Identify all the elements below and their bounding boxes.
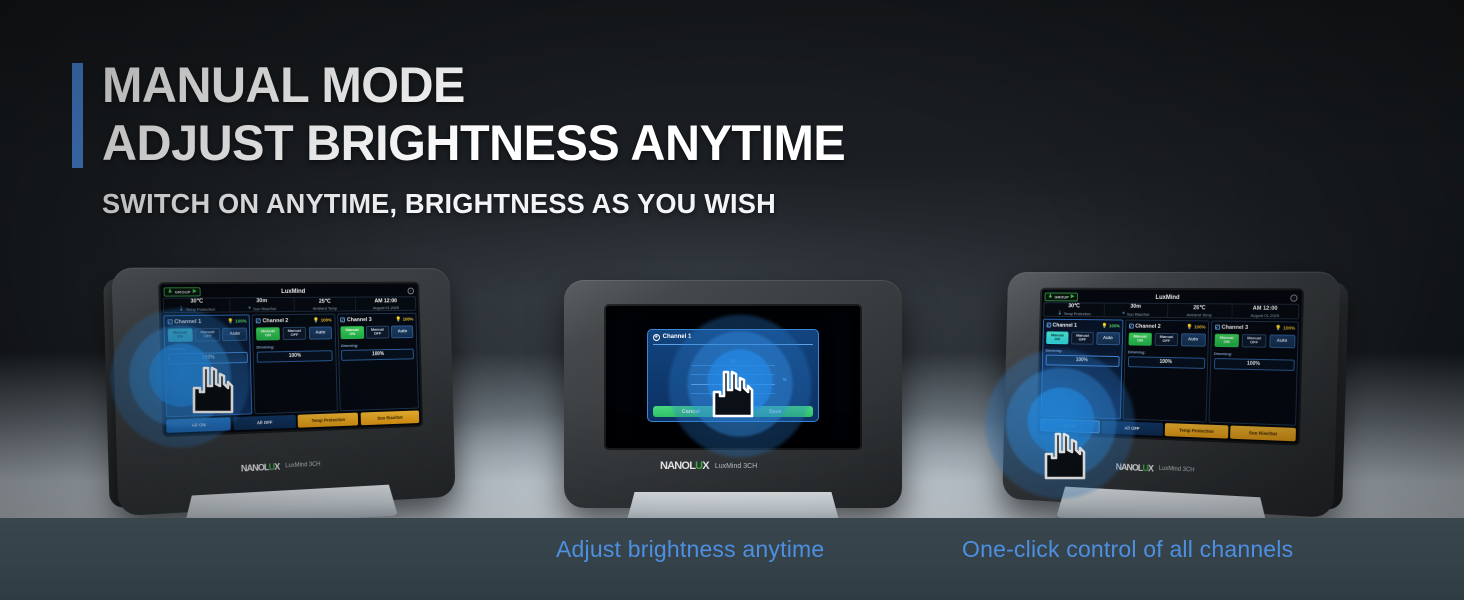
channel-header: ✓Channel 2💡100% [1128, 323, 1205, 330]
bulb-icon: 💡 [1102, 323, 1108, 329]
channel-percent: 💡100% [227, 318, 246, 324]
status-item-1: 30℃🌡Temp Protection [1044, 303, 1105, 316]
channel-percent-value: 100% [1283, 325, 1295, 330]
mode-button-manual-on[interactable]: ManualON [256, 327, 280, 340]
bulb-icon: 💡 [1275, 325, 1282, 331]
checkbox-icon[interactable]: ✓ [256, 318, 261, 323]
status-value: 30m [1130, 304, 1141, 310]
ui-title-bar: ♟ GROUP ▶ LuxMind [1044, 292, 1300, 304]
status-label-text: August 01,2025 [373, 305, 399, 310]
sun-icon: ☀ [248, 305, 252, 311]
mode-label-top: Auto [1188, 337, 1198, 342]
ui-title-bar: ♟ GROUP ▶ LuxMind [162, 286, 416, 298]
channel-header: ✓Channel 1💡100% [167, 318, 247, 325]
channel-name: Channel 1 [174, 318, 201, 324]
device-center: NANOLUX LuxMind 3CH ☀ Channel 1 9095100%… [564, 280, 902, 508]
status-label: 🌡Temp Protection [178, 306, 215, 312]
status-label-text: Temp Protection [186, 306, 216, 311]
mode-button-manual-off[interactable]: ManualOFF [195, 327, 220, 341]
status-value: 30℃ [1068, 303, 1080, 309]
action-button-sun-rise-set[interactable]: Sun Rise/Set [1230, 425, 1296, 441]
dimming-label: Dimming: [341, 341, 414, 347]
channel-panel-3[interactable]: ✓Channel 3💡100%ManualONManualOFFAutoDimm… [337, 313, 419, 412]
cancel-button[interactable]: Cancel [653, 406, 729, 417]
gear-icon[interactable] [407, 288, 414, 295]
picker-option-value: 95 [730, 368, 736, 374]
action-button-all-off[interactable]: All OFF [233, 415, 296, 430]
device-left-screen[interactable]: ♟ GROUP ▶ LuxMind 30℃🌡Temp Protection30m… [160, 284, 421, 435]
dimming-label: Dimming: [1128, 349, 1205, 355]
brand-model: LuxMind 3CH [715, 463, 757, 470]
status-item-4: AM 12:00August 01,2025 [1232, 304, 1298, 318]
mode-button-auto[interactable]: Auto [391, 325, 414, 338]
headline-block: MANUAL MODE ADJUST BRIGHTNESS ANYTIME SW… [72, 58, 1052, 220]
people-icon: ♟ [1048, 294, 1052, 299]
dimming-value-field[interactable]: 100% [256, 350, 332, 363]
brand-logo: NANOLUX [1116, 462, 1154, 474]
picker-option-value: 100 [728, 377, 739, 384]
status-bar: 30℃🌡Temp Protection30m☀Sun Rise/Set25℃Am… [1043, 302, 1299, 319]
mode-button-manual-off[interactable]: ManualOFF [1241, 334, 1267, 348]
channel-percent-value: 100% [1194, 324, 1206, 329]
dimming-label: Dimming: [168, 344, 248, 351]
mode-button-auto[interactable]: Auto [1181, 333, 1206, 346]
picker-option-value: 90 [730, 359, 736, 365]
controller-ui-right[interactable]: ♟ GROUP ▶ LuxMind 30℃🌡Temp Protection30m… [1038, 290, 1302, 444]
mode-button-manual-off[interactable]: ManualOFF [366, 325, 389, 338]
checkbox-icon[interactable]: ✓ [167, 319, 172, 324]
mode-label-bottom: OFF [374, 332, 382, 337]
channel-title: ✓Channel 3 [340, 317, 372, 323]
brand-logo: NANOLUX [660, 460, 709, 472]
status-label-text: Ambient Temp [1186, 312, 1211, 317]
bulb-icon: 💡 [396, 316, 402, 322]
channel-name: Channel 3 [1222, 324, 1249, 330]
mode-button-manual-on[interactable]: ManualON [340, 326, 363, 339]
caption-right: One-click control of all channels [962, 536, 1293, 563]
mode-button-manual-off[interactable]: ManualOFF [1071, 331, 1094, 344]
device-right: NANOLUX LuxMind 3CH ♟ GROUP ▶ LuxMind 30… [1002, 272, 1340, 518]
picker-option-value: 20 [730, 387, 736, 393]
status-label: 🌡Temp Protection [1057, 310, 1091, 316]
status-item-2: 30m☀Sun Rise/Set [230, 298, 294, 312]
picker-unit: % [783, 377, 787, 382]
thermometer-icon: 🌡 [178, 306, 184, 312]
mode-button-manual-off[interactable]: ManualOFF [1154, 332, 1178, 345]
channel-name: Channel 1 [1053, 322, 1077, 328]
checkbox-icon[interactable]: ✓ [1046, 323, 1051, 328]
channel-percent-value: 100% [321, 318, 332, 323]
mode-label-top: Auto [398, 329, 408, 334]
channel-percent-value: 100% [1109, 323, 1120, 328]
save-button[interactable]: Save [737, 406, 813, 417]
mode-label-bottom: ON [1223, 340, 1229, 345]
mode-button-manual-on[interactable]: ManualON [1128, 332, 1152, 345]
channel-title: ✓Channel 1 [1046, 322, 1077, 328]
status-value: 30℃ [190, 298, 203, 304]
chevron-right-icon: ▶ [193, 289, 197, 294]
action-button-all-on[interactable]: All ON [166, 417, 231, 433]
mode-button-manual-on[interactable]: ManualON [1046, 331, 1069, 344]
status-bar: 30℃🌡Temp Protection30m☀Sun Rise/Set25℃Am… [163, 296, 417, 313]
accent-bar [72, 63, 83, 168]
status-label-text: Sun Rise/Set [253, 306, 276, 311]
channel-header: ✓Channel 3💡100% [1215, 324, 1296, 331]
status-item-3: 25℃Ambient Temp [294, 298, 356, 311]
picker-option-20[interactable]: 20 [691, 386, 775, 394]
mode-label-bottom: ON [349, 332, 355, 337]
picker-option-90[interactable]: 90 [691, 358, 775, 366]
channel-panel-1[interactable]: ✓Channel 1💡100%ManualONManualOFFAutoDimm… [1041, 319, 1124, 420]
status-label-text: Sun Rise/Set [1127, 311, 1150, 316]
channel-header: ✓Channel 1💡100% [1046, 322, 1120, 329]
dimming-value-field[interactable]: 100% [1213, 357, 1294, 370]
status-label: August 01,2025 [373, 305, 399, 310]
picker-option-100[interactable]: 100% [691, 376, 775, 385]
controller-ui-left[interactable]: ♟ GROUP ▶ LuxMind 30℃🌡Temp Protection30m… [160, 284, 421, 435]
mode-button-manual-on[interactable]: ManualON [167, 328, 193, 342]
channel-list: ✓Channel 1💡100%ManualONManualOFFAutoDimm… [163, 313, 419, 418]
device-center-brand: NANOLUX LuxMind 3CH [660, 460, 757, 472]
brand-model: LuxMind 3CH [285, 462, 320, 470]
dialog-header: ☀ Channel 1 [653, 334, 814, 345]
dimming-label: Dimming: [1045, 347, 1119, 353]
people-icon: ♟ [168, 289, 173, 294]
channel-percent-value: 100% [403, 317, 414, 322]
headline-subtitle: SWITCH ON ANYTIME, BRIGHTNESS AS YOU WIS… [102, 168, 1024, 220]
channel-percent: 💡100% [1186, 324, 1205, 330]
channel-list: ✓Channel 1💡100%ManualONManualOFFAutoDimm… [1041, 319, 1299, 426]
status-label: Ambient Temp [313, 305, 338, 310]
dialog-title: Channel 1 [663, 334, 692, 340]
mode-label-bottom: ON [265, 333, 271, 338]
status-item-1: 30℃🌡Temp Protection [164, 298, 231, 312]
channel-panel-1[interactable]: ✓Channel 1💡100%ManualONManualOFFAutoDimm… [163, 314, 252, 417]
caption-left: Adjust brightness anytime [556, 536, 824, 563]
status-label: ☀Sun Rise/Set [1122, 311, 1150, 317]
channel-percent: 💡100% [396, 316, 414, 322]
sun-icon: ☀ [1122, 311, 1126, 317]
channel-percent: 💡100% [313, 317, 332, 323]
mode-label-top: Auto [315, 330, 325, 335]
status-value: 25℃ [319, 298, 331, 304]
device-left: NANOLUX LuxMind 3CH ♟ GROUP ▶ LuxMind 30… [111, 268, 455, 517]
channel-percent-value: 100% [235, 318, 247, 323]
channel-panel-2[interactable]: ✓Channel 2💡100%ManualONManualOFFAutoDimm… [252, 314, 338, 415]
promo-banner: MANUAL MODE ADJUST BRIGHTNESS ANYTIME SW… [0, 0, 1464, 600]
action-button-temp-protection[interactable]: Temp Protection [1165, 423, 1228, 439]
mode-button-row: ManualONManualOFFAuto [256, 326, 333, 340]
mode-label-top: Auto [230, 331, 240, 336]
channel-title: ✓Channel 1 [167, 318, 201, 325]
mode-label-bottom: OFF [1250, 340, 1258, 345]
mode-button-auto[interactable]: Auto [308, 326, 332, 339]
checkbox-icon[interactable]: ✓ [1128, 324, 1133, 329]
dimming-value-field[interactable]: 100% [341, 348, 414, 360]
mode-label-bottom: OFF [290, 333, 298, 338]
group-button[interactable]: ♟ GROUP ▶ [163, 287, 201, 296]
channel-title: ✓Channel 2 [1128, 323, 1160, 329]
brand-model: LuxMind 3CH [1159, 466, 1195, 474]
mode-button-auto[interactable]: Auto [1096, 332, 1120, 345]
status-label: ☀Sun Rise/Set [248, 305, 277, 311]
channel-percent: 💡100% [1275, 325, 1295, 331]
action-button-temp-protection[interactable]: Temp Protection [298, 413, 359, 428]
dimming-value-field[interactable]: 100% [168, 351, 248, 364]
picker-option-95[interactable]: 95 [691, 367, 775, 375]
channel-name: Channel 3 [347, 317, 372, 323]
status-item-2: 30m☀Sun Rise/Set [1105, 304, 1168, 317]
mode-label-bottom: OFF [204, 334, 212, 339]
action-button-all-on[interactable]: All ON [1040, 418, 1099, 433]
mode-button-row: ManualONManualOFFAuto [167, 327, 247, 341]
status-value: 30m [256, 298, 267, 304]
dimming-value-field[interactable]: 100% [1045, 354, 1119, 366]
dimming-label: Dimming: [256, 343, 332, 349]
status-item-3: 25℃Ambient Temp [1167, 304, 1232, 318]
mode-button-auto[interactable]: Auto [222, 327, 247, 341]
checkbox-icon[interactable]: ✓ [1215, 325, 1220, 330]
headline-line-2: ADJUST BRIGHTNESS ANYTIME [102, 110, 1024, 168]
brightness-picker[interactable]: 9095100%20 [653, 349, 814, 404]
group-button[interactable]: ♟ GROUP ▶ [1045, 293, 1079, 302]
group-label: GROUP [175, 289, 191, 294]
channel-title: ✓Channel 2 [256, 318, 289, 324]
status-label-text: Temp Protection [1064, 311, 1091, 316]
status-label: Ambient Temp [1186, 312, 1211, 317]
mode-button-row: ManualONManualOFFAuto [1046, 331, 1120, 345]
status-label-text: Ambient Temp [313, 305, 338, 310]
device-right-screen[interactable]: ♟ GROUP ▶ LuxMind 30℃🌡Temp Protection30m… [1038, 290, 1302, 444]
bulb-icon: 💡 [313, 317, 319, 323]
headline-line-1: MANUAL MODE [102, 58, 1024, 110]
group-label: GROUP [1054, 294, 1069, 299]
mode-label-bottom: ON [177, 335, 183, 340]
mode-button-auto[interactable]: Auto [1269, 334, 1295, 348]
channel-panel-2[interactable]: ✓Channel 2💡100%ManualONManualOFFAutoDimm… [1123, 320, 1210, 423]
mode-label-bottom: ON [1054, 337, 1060, 341]
app-title: LuxMind [1155, 294, 1179, 300]
thermometer-icon: 🌡 [1057, 310, 1062, 316]
brightness-dialog[interactable]: ☀ Channel 1 9095100%20 Cancel Save [647, 329, 820, 423]
mode-button-row: ManualONManualOFFAuto [1214, 333, 1295, 348]
bulb-icon: 💡 [227, 318, 233, 324]
channel-title: ✓Channel 3 [1215, 324, 1249, 331]
channel-name: Channel 2 [262, 318, 288, 324]
channel-header: ✓Channel 2💡100% [256, 317, 332, 324]
status-label-text: August 01,2025 [1251, 312, 1280, 317]
checkbox-icon[interactable]: ✓ [340, 317, 345, 322]
mode-label-top: Auto [1277, 338, 1288, 343]
action-button-all-off[interactable]: All OFF [1102, 421, 1163, 436]
mode-button-manual-off[interactable]: ManualOFF [282, 326, 306, 339]
caption-band: Adjust brightness anytime One-click cont… [0, 518, 1464, 600]
device-center-screen[interactable]: ☀ Channel 1 9095100%20 Cancel Save [606, 306, 860, 448]
mode-button-row: ManualONManualOFFAuto [1128, 332, 1205, 346]
mode-button-row: ManualONManualOFFAuto [340, 325, 413, 339]
mode-label-bottom: ON [1137, 339, 1143, 344]
channel-panel-3[interactable]: ✓Channel 3💡100%ManualONManualOFFAutoDimm… [1208, 320, 1299, 425]
chevron-right-icon: ▶ [1071, 295, 1075, 300]
action-button-sun-rise-set[interactable]: Sun Rise/Set [361, 410, 420, 425]
status-value: 25℃ [1193, 305, 1205, 311]
channel-name: Channel 2 [1135, 323, 1161, 329]
dimming-label: Dimming: [1214, 350, 1295, 357]
brightness-icon: ☀ [653, 334, 660, 341]
status-value: AM 12:00 [1253, 305, 1278, 311]
bulb-icon: 💡 [1186, 324, 1192, 330]
channel-percent: 💡100% [1102, 323, 1120, 329]
dialog-actions: Cancel Save [653, 403, 814, 417]
mode-button-manual-on[interactable]: ManualON [1214, 333, 1239, 347]
mode-label-bottom: OFF [1162, 339, 1170, 344]
status-value: AM 12:00 [374, 298, 397, 304]
status-label: August 01,2025 [1251, 312, 1280, 317]
gear-icon[interactable] [1290, 294, 1297, 301]
brand-logo: NANOLUX [241, 462, 280, 474]
dimming-value-field[interactable]: 100% [1127, 356, 1204, 369]
channel-header: ✓Channel 3💡100% [340, 316, 413, 323]
app-title: LuxMind [281, 288, 305, 294]
mode-label-top: Auto [1103, 336, 1113, 341]
mode-label-bottom: OFF [1079, 338, 1087, 343]
status-item-4: AM 12:00August 01,2025 [356, 297, 415, 310]
